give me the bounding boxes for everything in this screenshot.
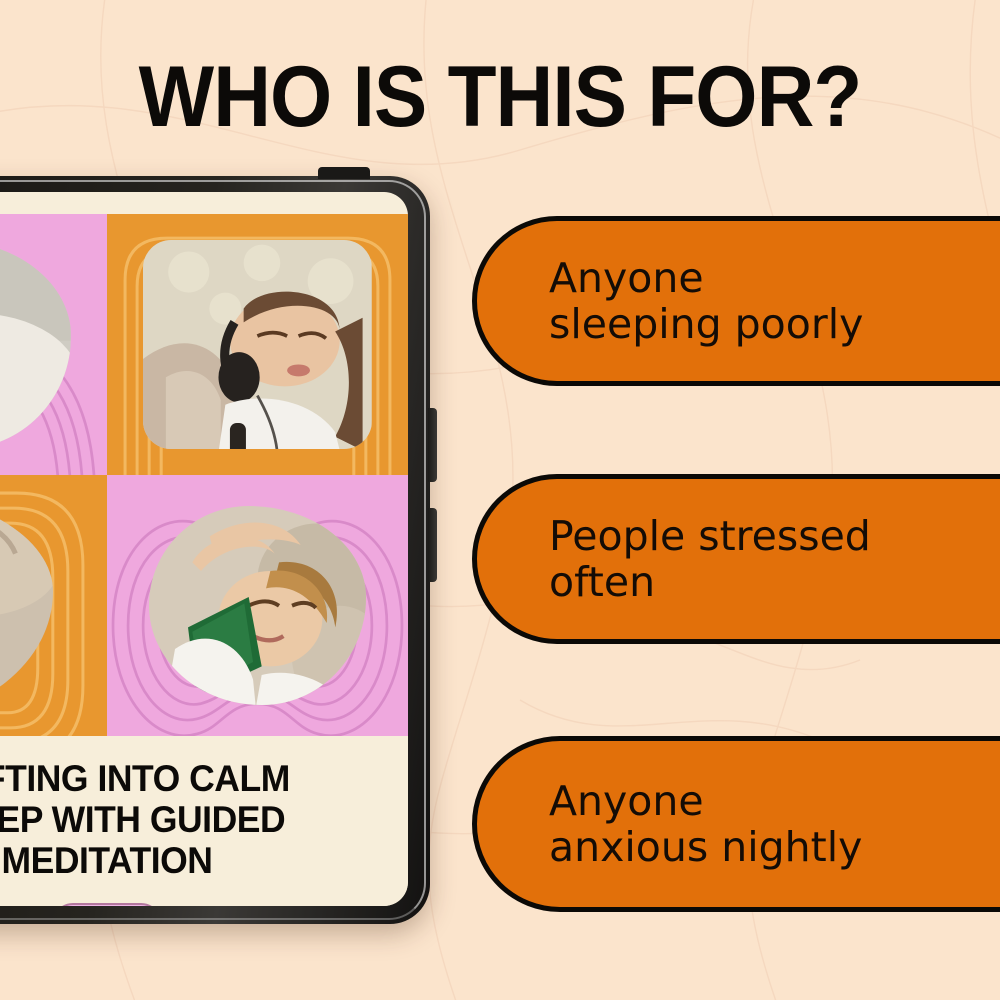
tablet-volume-button[interactable]	[428, 408, 437, 482]
tablet-top-nub-button[interactable]	[318, 167, 370, 179]
tablet-mockup: DRIFTING INTO CALM SLEEP WITH GUIDED MED…	[0, 176, 430, 924]
photo-tile-top-right	[107, 214, 408, 475]
photo-woman-headphones	[143, 240, 372, 449]
slide-canvas: WHO IS THIS FOR?	[0, 0, 1000, 1000]
caption-line-3: MEDITATION	[0, 840, 379, 881]
audience-card-3[interactable]: Anyone anxious nightly	[472, 736, 1000, 912]
audience-card-1-label: Anyone sleeping poorly	[477, 255, 897, 347]
photo-sleeping-teen	[0, 240, 71, 449]
photo-man-with-book	[149, 506, 366, 704]
audience-card-2-label: People stressed often	[477, 513, 897, 605]
guide-badge[interactable]: Guide	[52, 903, 161, 906]
photo-tile-top-left	[0, 214, 107, 475]
photo-woman-earphones	[0, 491, 53, 721]
audience-card-1[interactable]: Anyone sleeping poorly	[472, 216, 1000, 386]
caption-line-1: DRIFTING INTO CALM	[0, 758, 379, 799]
caption-line-2: SLEEP WITH GUIDED	[0, 799, 379, 840]
screen-caption: DRIFTING INTO CALM SLEEP WITH GUIDED MED…	[0, 736, 408, 906]
tablet-screen: DRIFTING INTO CALM SLEEP WITH GUIDED MED…	[0, 192, 408, 906]
page-title: WHO IS THIS FOR?	[35, 54, 965, 140]
audience-card-2[interactable]: People stressed often	[472, 474, 1000, 644]
photo-grid	[0, 214, 408, 736]
photo-tile-bottom-left	[0, 475, 107, 736]
audience-card-3-label: Anyone anxious nightly	[477, 778, 897, 870]
tablet-power-button[interactable]	[428, 508, 437, 582]
photo-tile-bottom-right	[107, 475, 408, 736]
